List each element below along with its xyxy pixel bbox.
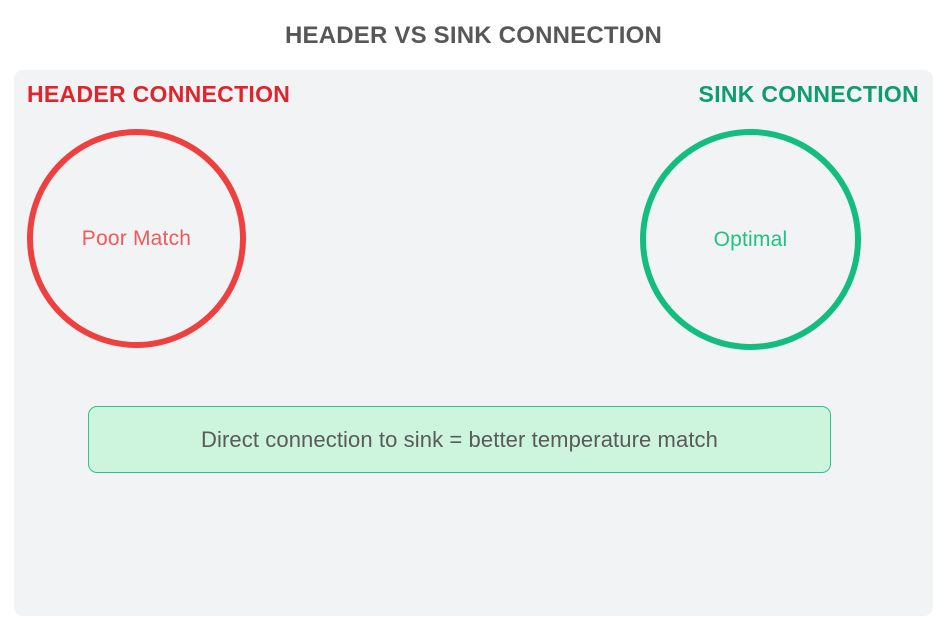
header-connection-heading: HEADER CONNECTION [27,81,290,108]
summary-banner: Direct connection to sink = better tempe… [88,406,831,473]
sink-connection-heading: SINK CONNECTION [699,81,919,108]
diagram-canvas: HEADER VS SINK CONNECTION HEADER CONNECT… [0,0,947,631]
summary-banner-text: Direct connection to sink = better tempe… [201,427,718,453]
page-title: HEADER VS SINK CONNECTION [0,22,947,50]
sink-connection-circle: Optimal [640,129,861,350]
sink-connection-circle-label: Optimal [714,228,788,252]
header-connection-circle-label: Poor Match [82,227,191,251]
header-connection-circle: Poor Match [27,129,246,348]
